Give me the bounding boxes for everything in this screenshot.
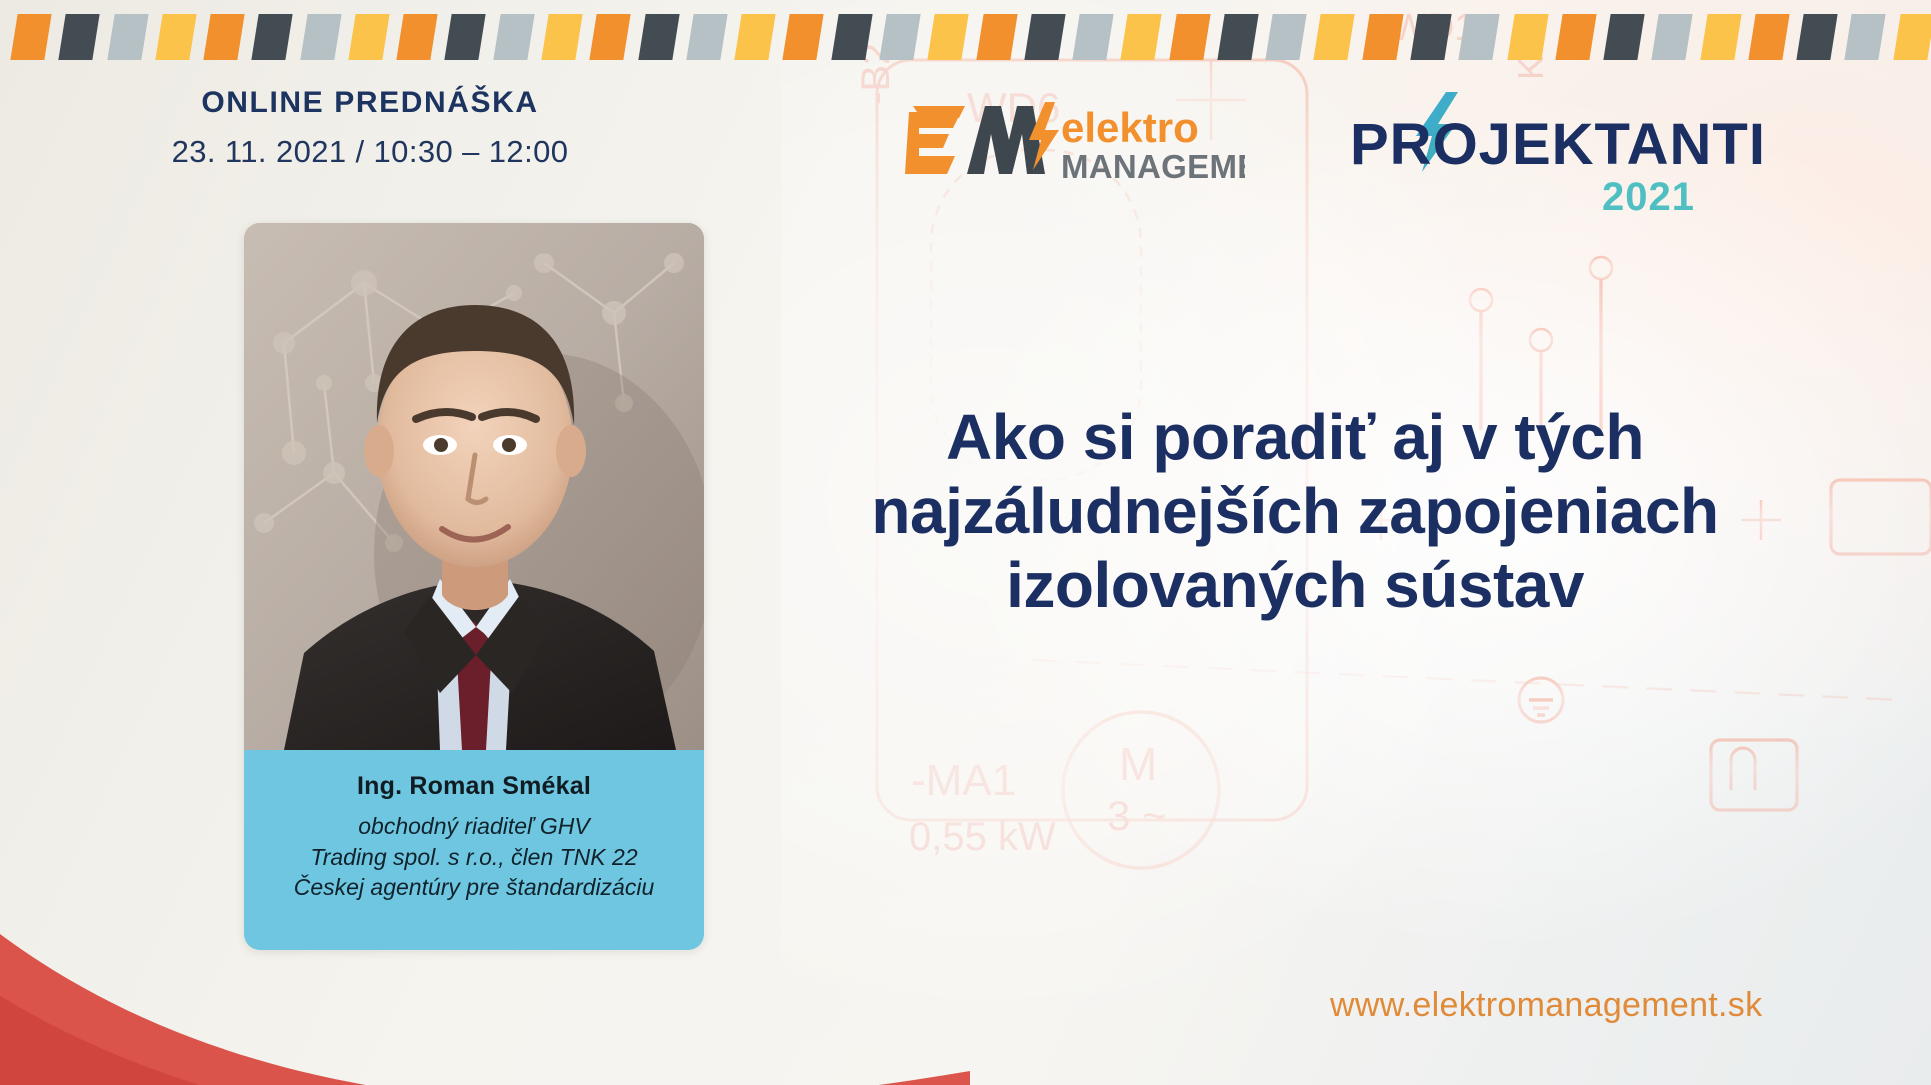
stripe-orange [203,14,244,60]
schematic-label-motor-m: M [1119,738,1157,790]
stripe-orange [1362,14,1403,60]
website-url[interactable]: www.elektromanagement.sk [1330,986,1850,1025]
stripe-dark_slate [1797,14,1838,60]
stripe-orange [590,14,631,60]
stripe-orange [10,14,51,60]
stripe-gray_blue [107,14,148,60]
speaker-name: Ing. Roman Smékal [357,772,591,801]
speaker-card: Ing. Roman Smékal obchodný riaditeľ GHVT… [244,223,704,950]
poster-canvas: -B2 WD6 WD1 K1 -MA1 0,55 kW M 3 ~ ONLINE… [0,0,1931,1085]
stripe-yellow [155,14,196,60]
stripe-gray_blue [1265,14,1306,60]
stripe-dark_slate [638,14,679,60]
stripe-orange [1169,14,1210,60]
stripe-gray_blue [1652,14,1693,60]
elektromanagement-logo: elektro MANAGEMENT [905,96,1245,188]
stripe-yellow [734,14,775,60]
stripe-yellow [1700,14,1741,60]
schematic-label-motor-phase: 3 ~ [1107,792,1167,839]
em-logo-line1: elektro [1061,104,1199,151]
headline-line-2: najzáludnejších zapojeniach [790,474,1800,548]
projektanti-year: 2021 [1602,175,1695,218]
stripe-gray_blue [879,14,920,60]
stripe-orange [1555,14,1596,60]
stripe-yellow [1893,14,1931,60]
speaker-role-line-2: Trading spol. s r.o., člen TNK 22 [294,842,655,873]
stripe-yellow [1121,14,1162,60]
stripe-dark_slate [59,14,100,60]
stripe-yellow [348,14,389,60]
speaker-role: obchodný riaditeľ GHVTrading spol. s r.o… [294,811,655,903]
stripe-dark_slate [445,14,486,60]
stripe-yellow [928,14,969,60]
stripe-yellow [1507,14,1548,60]
speaker-role-line-1: obchodný riaditeľ GHV [294,811,655,842]
event-kicker: ONLINE PREDNÁŠKA [0,86,740,120]
projektanti-logo: PROJEKTANTI 2021 [1350,88,1770,218]
headline-line-3: izolovaných sústav [790,548,1800,622]
stripe-gray_blue [1072,14,1113,60]
headline: Ako si poradiť aj v týchnajzáludnejších … [790,400,1800,623]
schematic-label-power: 0,55 kW [909,815,1056,859]
stripe-dark_slate [252,14,293,60]
stripe-orange [783,14,824,60]
stripe-gray_blue [1845,14,1886,60]
headline-line-1: Ako si poradiť aj v tých [790,400,1800,474]
schematic-label-ma1: -MA1 [911,756,1016,805]
stripe-dark_slate [1410,14,1451,60]
stripe-gray_blue [493,14,534,60]
stripe-orange [976,14,1017,60]
stripe-dark_slate [1603,14,1644,60]
event-datetime: 23. 11. 2021 / 10:30 – 12:00 [0,134,740,170]
stripe-dark_slate [1024,14,1065,60]
stripe-gray_blue [1459,14,1500,60]
top-stripe-band [0,0,1931,72]
stripe-gray_blue [686,14,727,60]
stripe-yellow [541,14,582,60]
em-logo-line2: MANAGEMENT [1061,148,1245,185]
speaker-photo [244,223,704,750]
projektanti-wordmark: PROJEKTANTI [1350,112,1766,177]
stripe-yellow [1314,14,1355,60]
stripe-gray_blue [300,14,341,60]
speaker-info-strip: Ing. Roman Smékal obchodný riaditeľ GHVT… [244,750,704,950]
stripe-dark_slate [831,14,872,60]
speaker-role-line-3: Českej agentúry pre štandardizáciu [294,872,655,903]
left-column: ONLINE PREDNÁŠKA 23. 11. 2021 / 10:30 – … [0,86,740,170]
stripe-orange [397,14,438,60]
stripe-dark_slate [1217,14,1258,60]
stripe-orange [1748,14,1789,60]
